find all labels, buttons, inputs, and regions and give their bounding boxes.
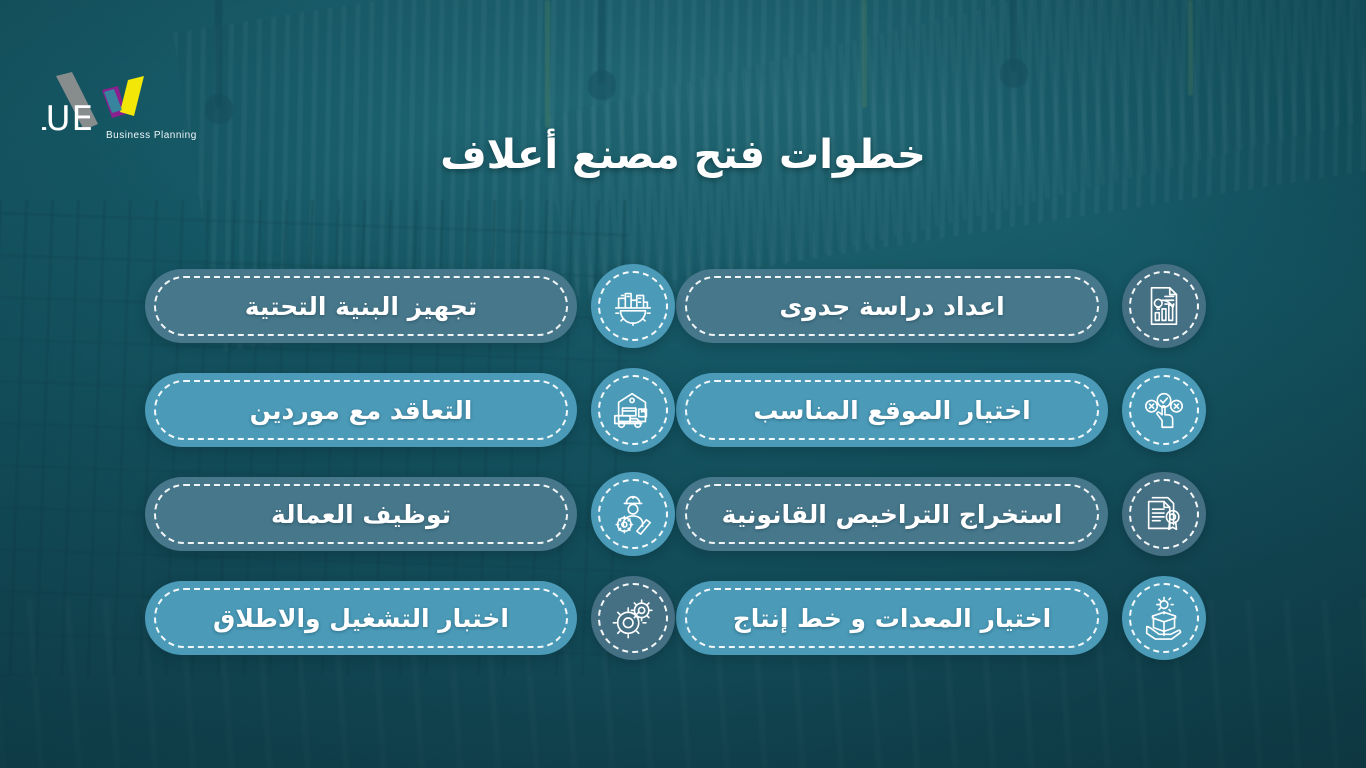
step-label: توظيف العمالة [245,500,477,529]
step-pill[interactable]: اختبار التشغيل والاطلاق [145,581,577,655]
step-row[interactable]: التعاقد مع موردين [145,366,675,454]
equipment-box-icon [1122,576,1206,660]
worker-hiring-icon [591,472,675,556]
legal-license-icon [1122,472,1206,556]
step-row[interactable]: اعداد دراسة جدوى [676,262,1206,350]
page-title: خطوات فتح مصنع أعلاف [0,132,1366,178]
step-pill[interactable]: توظيف العمالة [145,477,577,551]
step-row[interactable]: استخراج التراخيص القانونية [676,470,1206,558]
step-row[interactable]: اختبار التشغيل والاطلاق [145,574,675,662]
step-row[interactable]: توظيف العمالة [145,470,675,558]
infographic-slide: ALUE Business Planning خطوات فتح مصنع أع… [0,0,1366,768]
step-label: اعداد دراسة جدوى [753,292,1030,321]
supplier-truck-icon [591,368,675,452]
steps-column-left: تجهيز البنية التحتية [145,262,675,662]
location-choice-icon [1122,368,1206,452]
infrastructure-icon [591,264,675,348]
step-pill[interactable]: التعاقد مع موردين [145,373,577,447]
feasibility-study-icon [1122,264,1206,348]
steps-column-right: اعداد دراسة جدوى اختيار الموقع المناسب [676,262,1206,662]
step-pill[interactable]: اختيار المعدات و خط إنتاج [676,581,1108,655]
step-label: اختبار التشغيل والاطلاق [187,604,535,633]
step-pill[interactable]: اعداد دراسة جدوى [676,269,1108,343]
step-label: اختيار الموقع المناسب [727,396,1056,425]
step-label: استخراج التراخيص القانونية [696,500,1089,529]
step-row[interactable]: اختيار المعدات و خط إنتاج [676,574,1206,662]
step-label: التعاقد مع موردين [224,396,499,425]
step-pill[interactable]: استخراج التراخيص القانونية [676,477,1108,551]
step-pill[interactable]: تجهيز البنية التحتية [145,269,577,343]
step-row[interactable]: اختيار الموقع المناسب [676,366,1206,454]
step-label: اختيار المعدات و خط إنتاج [707,604,1077,633]
step-label: تجهيز البنية التحتية [219,292,504,321]
gears-launch-icon [591,576,675,660]
step-row[interactable]: تجهيز البنية التحتية [145,262,675,350]
step-pill[interactable]: اختيار الموقع المناسب [676,373,1108,447]
